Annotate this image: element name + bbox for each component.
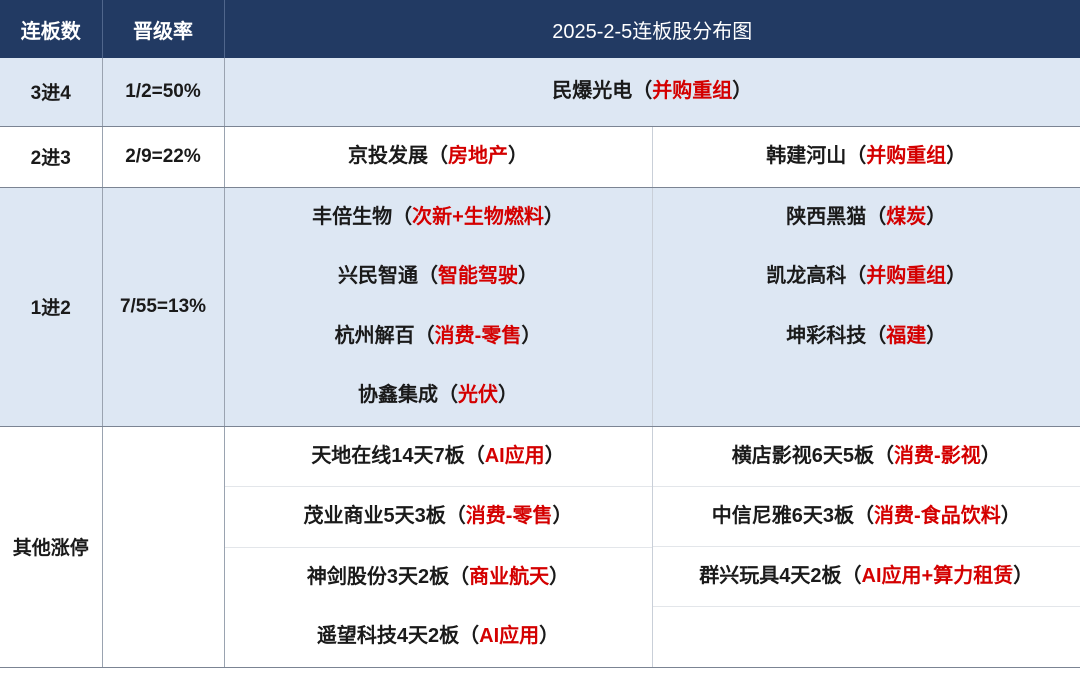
table-row-2j3: 2进3 2/9=22% 京投发展（房地产） 韩建河山（并购重组） xyxy=(0,126,1080,187)
stock-list-left: 天地在线14天7板（AI应用） 茂业商业5天3板（消费-零售） 神剑股份3天2板… xyxy=(225,427,652,667)
bracket-close: ） xyxy=(926,325,946,347)
bracket-open: （ xyxy=(438,384,458,406)
bracket-close: ） xyxy=(946,265,966,287)
bracket-close: ） xyxy=(539,625,559,647)
stock-name: 丰倍生物 xyxy=(312,206,392,228)
bracket-open: （ xyxy=(465,445,485,467)
stock-name: 京投发展 xyxy=(348,145,428,167)
bracket-open: （ xyxy=(392,206,412,228)
stock-subrow[interactable]: 遥望科技4天2板（AI应用） xyxy=(225,607,652,667)
level-label-other: 其他涨停 xyxy=(0,426,102,667)
stock-name: 神剑股份3天2板 xyxy=(307,566,449,588)
stock-tag: 商业航天 xyxy=(469,566,549,588)
rate-label-1j2: 7/55=13% xyxy=(102,187,224,426)
stock-name: 杭州解百 xyxy=(335,325,415,347)
bracket-close: ） xyxy=(544,206,564,228)
bracket-open: （ xyxy=(866,206,886,228)
stock-tag: 并购重组 xyxy=(866,145,946,167)
stock-cell-other-left: 天地在线14天7板（AI应用） 茂业商业5天3板（消费-零售） 神剑股份3天2板… xyxy=(224,426,652,667)
stock-cell-other-right: 横店影视6天5板（消费-影视） 中信尼雅6天3板（消费-食品饮料） 群兴玩具4天… xyxy=(652,426,1080,667)
stock-name: 群兴玩具4天2板 xyxy=(699,565,841,587)
bracket-close: ） xyxy=(552,505,572,527)
bracket-close: ） xyxy=(508,145,528,167)
table-row-1j2: 1进2 7/55=13% 丰倍生物（次新+生物燃料） 兴民智通（智能驾驶） 杭州… xyxy=(0,187,1080,426)
bracket-open: （ xyxy=(449,566,469,588)
stock-subrow[interactable]: 横店影视6天5板（消费-影视） xyxy=(653,427,1080,487)
bracket-close: ） xyxy=(521,325,541,347)
stock-entry: 中信尼雅6天3板（消费-食品饮料） xyxy=(712,504,1021,529)
stock-entry[interactable]: 坤彩科技（福建） xyxy=(653,320,1080,353)
stock-name: 遥望科技4天2板 xyxy=(317,625,459,647)
header-col-level: 连板数 xyxy=(0,0,102,58)
stock-tag: 消费-影视 xyxy=(894,445,981,467)
rate-label-3j4: 1/2=50% xyxy=(102,58,224,126)
stock-tag: AI应用+算力租赁 xyxy=(862,565,1014,587)
stock-name: 协鑫集成 xyxy=(358,384,438,406)
stock-cell-1j2-right: 陕西黑猫（煤炭） 凯龙高科（并购重组） 坤彩科技（福建） xyxy=(652,187,1080,426)
stock-entry[interactable]: 凯龙高科（并购重组） xyxy=(653,260,1080,293)
stock-entry[interactable]: 京投发展（房地产） xyxy=(225,144,652,169)
stock-name: 韩建河山 xyxy=(766,145,846,167)
stock-entry: 茂业商业5天3板（消费-零售） xyxy=(304,504,573,529)
level-label-1j2: 1进2 xyxy=(0,187,102,426)
bracket-open: （ xyxy=(842,565,862,587)
level-label-3j4: 3进4 xyxy=(0,58,102,126)
bracket-open: （ xyxy=(428,145,448,167)
table-row-3j4: 3进4 1/2=50% 民爆光电（并购重组） xyxy=(0,58,1080,126)
stock-list-right: 横店影视6天5板（消费-影视） 中信尼雅6天3板（消费-食品饮料） 群兴玩具4天… xyxy=(653,427,1080,667)
stock-tag: 房地产 xyxy=(448,145,508,167)
bracket-open: （ xyxy=(446,505,466,527)
stock-name: 陕西黑猫 xyxy=(786,206,866,228)
stock-tag: 并购重组 xyxy=(652,80,732,102)
bracket-open: （ xyxy=(846,145,866,167)
bracket-open: （ xyxy=(846,265,866,287)
stock-subrow[interactable]: 茂业商业5天3板（消费-零售） xyxy=(225,487,652,548)
stock-distribution-board: C 财联社股市频道 连板数 晋级率 2025-2-5连板股分布图 3进4 1/2… xyxy=(0,0,1080,674)
stock-entry[interactable]: 协鑫集成（光伏） xyxy=(225,379,652,412)
bracket-open: （ xyxy=(854,505,874,527)
stock-name: 民爆光电 xyxy=(552,80,632,102)
stock-name: 天地在线14天7板 xyxy=(311,445,464,467)
bracket-close: ） xyxy=(545,445,565,467)
stock-tag: 福建 xyxy=(886,325,926,347)
stock-name: 兴民智通 xyxy=(338,265,418,287)
bracket-open: （ xyxy=(415,325,435,347)
stock-cell-3j4: 民爆光电（并购重组） xyxy=(224,58,1080,126)
rate-label-2j3: 2/9=22% xyxy=(102,126,224,187)
stock-subrow[interactable]: 中信尼雅6天3板（消费-食品饮料） xyxy=(653,487,1080,547)
distribution-table: 连板数 晋级率 2025-2-5连板股分布图 3进4 1/2=50% 民爆光电（… xyxy=(0,0,1080,668)
page-title: 2025-2-5连板股分布图 xyxy=(224,0,1080,58)
bracket-open: （ xyxy=(459,625,479,647)
table-header-row: 连板数 晋级率 2025-2-5连板股分布图 xyxy=(0,0,1080,58)
bracket-open: （ xyxy=(418,265,438,287)
stock-entry: 天地在线14天7板（AI应用） xyxy=(311,444,564,469)
stock-entry[interactable]: 韩建河山（并购重组） xyxy=(653,144,1080,169)
stock-subrow-empty xyxy=(653,607,1080,666)
stock-cell-1j2-left: 丰倍生物（次新+生物燃料） 兴民智通（智能驾驶） 杭州解百（消费-零售） 协鑫集… xyxy=(224,187,652,426)
stock-entry-spacer xyxy=(653,379,1080,412)
stock-entry: 横店影视6天5板（消费-影视） xyxy=(732,444,1001,469)
bracket-open: （ xyxy=(632,80,652,102)
stock-subrow[interactable]: 群兴玩具4天2板（AI应用+算力租赁） xyxy=(653,547,1080,607)
stock-list-right: 陕西黑猫（煤炭） 凯龙高科（并购重组） 坤彩科技（福建） xyxy=(653,188,1080,426)
stock-name: 横店影视6天5板 xyxy=(732,445,874,467)
stock-tag: 消费-零售 xyxy=(435,325,522,347)
stock-tag: 消费-零售 xyxy=(466,505,553,527)
rate-label-other xyxy=(102,426,224,667)
stock-entry: 遥望科技4天2板（AI应用） xyxy=(317,624,559,649)
bracket-close: ） xyxy=(946,145,966,167)
stock-entry[interactable]: 民爆光电（并购重组） xyxy=(225,79,1080,104)
stock-cell-2j3-left: 京投发展（房地产） xyxy=(224,126,652,187)
bracket-open: （ xyxy=(866,325,886,347)
bracket-close: ） xyxy=(1013,565,1033,587)
stock-name: 坤彩科技 xyxy=(786,325,866,347)
stock-entry[interactable]: 丰倍生物（次新+生物燃料） xyxy=(225,201,652,234)
level-label-2j3: 2进3 xyxy=(0,126,102,187)
stock-subrow[interactable]: 天地在线14天7板（AI应用） xyxy=(225,427,652,488)
bracket-close: ） xyxy=(518,265,538,287)
stock-entry[interactable]: 杭州解百（消费-零售） xyxy=(225,320,652,353)
stock-tag: 并购重组 xyxy=(866,265,946,287)
stock-tag: 智能驾驶 xyxy=(438,265,518,287)
bracket-close: ） xyxy=(1001,505,1021,527)
stock-name: 茂业商业5天3板 xyxy=(304,505,446,527)
stock-subrow[interactable]: 神剑股份3天2板（商业航天） xyxy=(225,548,652,608)
stock-name: 凯龙高科 xyxy=(766,265,846,287)
bracket-close: ） xyxy=(549,566,569,588)
header-col-rate: 晋级率 xyxy=(102,0,224,58)
bracket-close: ） xyxy=(498,384,518,406)
stock-entry: 群兴玩具4天2板（AI应用+算力租赁） xyxy=(699,564,1033,589)
bracket-close: ） xyxy=(981,445,1001,467)
stock-cell-2j3-right: 韩建河山（并购重组） xyxy=(652,126,1080,187)
stock-entry: 神剑股份3天2板（商业航天） xyxy=(307,565,569,590)
stock-tag: 消费-食品饮料 xyxy=(874,505,1001,527)
stock-tag: AI应用 xyxy=(485,445,545,467)
stock-tag: 次新+生物燃料 xyxy=(412,206,544,228)
stock-entry[interactable]: 兴民智通（智能驾驶） xyxy=(225,260,652,293)
stock-tag: 光伏 xyxy=(458,384,498,406)
bracket-close: ） xyxy=(732,80,752,102)
bracket-close: ） xyxy=(926,206,946,228)
stock-tag: AI应用 xyxy=(479,625,539,647)
bracket-open: （ xyxy=(874,445,894,467)
stock-tag: 煤炭 xyxy=(886,206,926,228)
stock-entry[interactable]: 陕西黑猫（煤炭） xyxy=(653,201,1080,234)
table-row-other: 其他涨停 天地在线14天7板（AI应用） 茂业商业5天3板（消费-零售） xyxy=(0,426,1080,667)
stock-list-left: 丰倍生物（次新+生物燃料） 兴民智通（智能驾驶） 杭州解百（消费-零售） 协鑫集… xyxy=(225,188,652,426)
stock-name: 中信尼雅6天3板 xyxy=(712,505,854,527)
